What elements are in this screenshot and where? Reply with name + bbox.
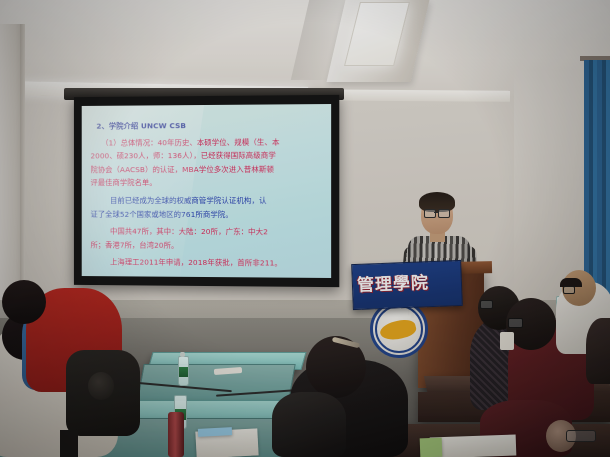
attendee-far-right [586,318,610,384]
slide-line-5: 目前已经成为全球的权威商管学院认证机构，认 [91,194,322,208]
lecture-hall-photo: 2、学院介绍 UNCW CSB （1）总体情况：40年历史、本硕学位、规模（生、… [0,0,610,457]
slide-line-1: （1）总体情况：40年历史、本硕学位、规模（生、本 [91,135,322,150]
pillar-edge [20,24,25,324]
notebook-paper-right [430,435,517,457]
notebook-cover-right [420,438,443,457]
slide-content: 2、学院介绍 UNCW CSB （1）总体情况：40年历史、本硕学位、规模（生、… [82,104,331,278]
bottle-cap [180,352,185,357]
slide-title: 2、学院介绍 UNCW CSB [91,118,322,133]
slide-line-3: 院协会（AACSB）的认证，MBA学位多次进入普林斯顿 [91,162,322,176]
slide-line-7: 中国共47所，其中：大陆：20所，广东：中大2 [91,225,322,239]
eyeglasses-right-lens [438,209,450,218]
thermos-flask [168,412,184,457]
backpack-pocket [88,372,114,400]
slide-line-9: 上海理工2011年申请，2018年获批，首所非211。 [91,256,322,271]
bottle-label [179,367,188,377]
wall-pillar [0,24,22,324]
eyeglasses-on-desk-icon [566,430,596,442]
slide-line-6: 证了全球52个国家或地区的761所商学院。 [91,207,322,221]
screen-surface: 2、学院介绍 UNCW CSB （1）总体情况：40年历史、本硕学位、规模（生、… [82,104,331,278]
eyeglasses-icon-right-2 [508,318,523,328]
banner-label: 管理學院 [356,267,457,296]
projection-screen: 2、学院介绍 UNCW CSB （1）总体情况：40年历史、本硕学位、规模（生、… [74,95,339,287]
attendee-red-jacket-head [2,280,46,324]
window-curtain [584,60,610,300]
slide-line-2: 2000、硕230人，师：136人），已经获得国际高级商学 [91,149,322,163]
slide-line-4: 评最佳商学院名单。 [91,176,322,190]
eyeglasses-icon-right-1 [480,300,493,309]
eyeglasses-icon-right-3 [563,286,575,294]
paper-cup [500,332,514,350]
chair-leg [60,430,78,457]
slide-line-8: 所；香港7所，台湾20所。 [91,238,322,253]
department-banner: 管理學院 [351,260,463,310]
attendee-chair-back [272,392,346,457]
eyeglasses-bridge [434,212,438,213]
eyeglasses-icon [424,209,436,218]
water-bottle [178,356,189,386]
